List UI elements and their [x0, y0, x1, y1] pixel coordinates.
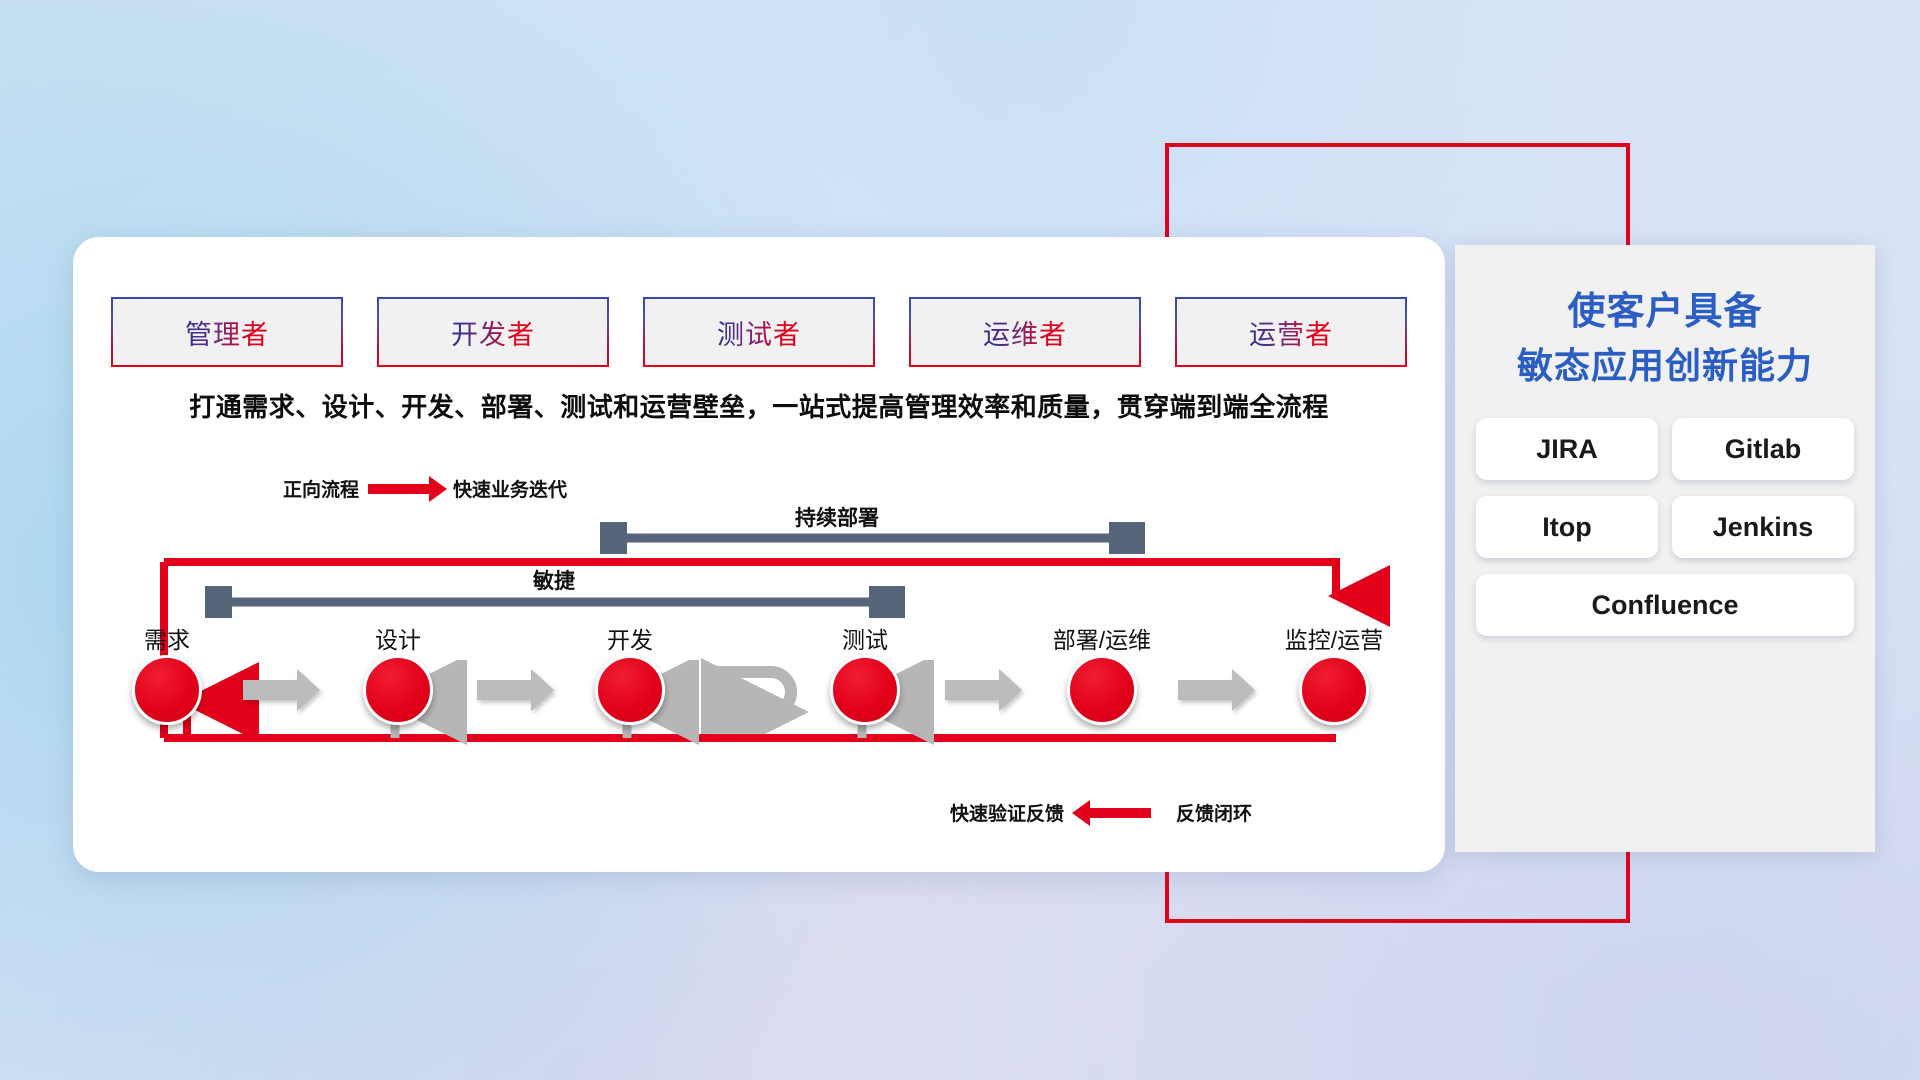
- pipeline-node-testing[interactable]: [830, 655, 900, 725]
- tool-chip-itop[interactable]: Itop: [1476, 496, 1658, 558]
- legend-feedback-left-label: 快速验证反馈: [950, 799, 1064, 826]
- legend-forward-right-label: 快速业务迭代: [453, 475, 567, 502]
- tools-panel: 使客户具备 敏态应用创新能力 JIRA Gitlab Itop Jenkins …: [1455, 245, 1875, 852]
- pipeline-arrow-5: [1178, 680, 1233, 700]
- legend-feedback-right-label: 反馈闭环: [1176, 799, 1252, 826]
- role-box-tester[interactable]: 测试者: [643, 297, 875, 367]
- role-label: 运维者: [983, 313, 1067, 352]
- legend-feedback-loop: 快速验证反馈 反馈闭环: [950, 799, 1252, 826]
- pipeline-node-design[interactable]: [363, 655, 433, 725]
- role-label: 开发者: [451, 313, 535, 352]
- red-arrow-right-icon: [368, 484, 430, 494]
- role-box-developer[interactable]: 开发者: [377, 297, 609, 367]
- iteration-loop-arrow-icon: [697, 656, 817, 734]
- slide-canvas: 管理者 开发者 测试者 运维者 运营者 打通需求、设计、开发、部署、测试和运营壁…: [0, 0, 1920, 1080]
- node-label-development: 开发: [575, 621, 685, 655]
- tool-chip-gitlab[interactable]: Gitlab: [1672, 418, 1854, 480]
- pipeline-node-requirement[interactable]: [132, 655, 202, 725]
- node-label-testing: 测试: [810, 621, 920, 655]
- role-box-operation[interactable]: 运营者: [1175, 297, 1407, 367]
- role-box-ops[interactable]: 运维者: [909, 297, 1141, 367]
- tools-title-line2: 敏态应用创新能力: [1455, 340, 1875, 392]
- pipeline-arrow-4: [945, 680, 1000, 700]
- headline-text: 打通需求、设计、开发、部署、测试和运营壁垒，一站式提高管理效率和质量，贯穿端到端…: [73, 387, 1445, 424]
- tools-panel-title: 使客户具备 敏态应用创新能力: [1455, 245, 1875, 392]
- role-box-manager[interactable]: 管理者: [111, 297, 343, 367]
- legend-forward-flow: 正向流程 快速业务迭代: [283, 475, 567, 502]
- role-label: 运营者: [1249, 313, 1333, 352]
- pipeline-arrow-1: [243, 680, 298, 700]
- role-box-row: 管理者 开发者 测试者 运维者 运营者: [111, 297, 1407, 367]
- tool-chip-list: JIRA Gitlab Itop Jenkins Confluence: [1471, 418, 1859, 636]
- red-arrow-left-icon: [1089, 808, 1151, 818]
- role-label: 测试者: [717, 313, 801, 352]
- node-label-requirement: 需求: [112, 621, 222, 655]
- role-label: 管理者: [185, 313, 269, 352]
- tools-title-line1: 使客户具备: [1455, 285, 1875, 340]
- pipeline-node-monitor-operation[interactable]: [1299, 655, 1369, 725]
- pipeline-arrow-2: [477, 680, 532, 700]
- pipeline-node-development[interactable]: [595, 655, 665, 725]
- node-label-design: 设计: [343, 621, 453, 655]
- tool-chip-confluence[interactable]: Confluence: [1476, 574, 1854, 636]
- legend-forward-left-label: 正向流程: [283, 475, 359, 502]
- node-label-deploy-ops: 部署/运维: [1017, 621, 1187, 655]
- node-label-monitor-operation: 监控/运营: [1249, 621, 1419, 655]
- pipeline-node-deploy-ops[interactable]: [1067, 655, 1137, 725]
- red-bracket-top: [1165, 143, 1630, 147]
- tool-chip-jenkins[interactable]: Jenkins: [1672, 496, 1854, 558]
- tool-chip-jira[interactable]: JIRA: [1476, 418, 1658, 480]
- red-bracket-bottom: [1165, 919, 1630, 923]
